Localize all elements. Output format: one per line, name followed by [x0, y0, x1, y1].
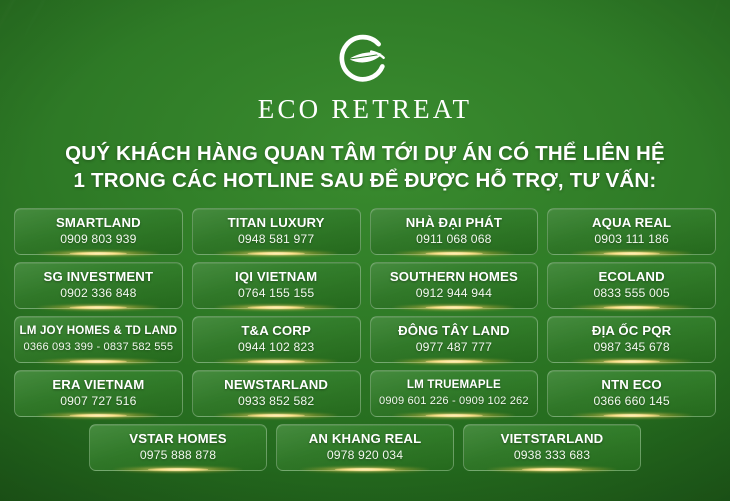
agency-name: VSTAR HOMES — [129, 432, 226, 447]
agency-name: NHÀ ĐẠI PHÁT — [406, 216, 502, 231]
agency-phone[interactable]: 0366 660 145 — [593, 395, 669, 408]
agency-phone[interactable]: 0903 111 186 — [594, 233, 669, 246]
poster-content: ECO RETREAT QUÝ KHÁCH HÀNG QUAN TÂM TỚI … — [0, 0, 730, 501]
hotline-card[interactable]: SMARTLAND 0909 803 939 — [14, 208, 183, 255]
agency-phone[interactable]: 0975 888 878 — [140, 449, 216, 462]
headline-line-2: 1 TRONG CÁC HOTLINE SAU ĐỂ ĐƯỢC HỖ TRỢ, … — [18, 167, 712, 194]
agency-name: VIETSTARLAND — [501, 432, 604, 447]
agency-phone[interactable]: 0911 068 068 — [416, 233, 491, 246]
hotline-row: SMARTLAND 0909 803 939 TITAN LUXURY 0948… — [14, 208, 716, 255]
agency-phone[interactable]: 0977 487 777 — [416, 341, 492, 354]
agency-phone[interactable]: 0948 581 977 — [238, 233, 314, 246]
eco-retreat-hotline-poster: ECO RETREAT QUÝ KHÁCH HÀNG QUAN TÂM TỚI … — [0, 0, 730, 501]
agency-phone[interactable]: 0909 601 226 - 0909 102 262 — [379, 395, 529, 407]
hotline-card[interactable]: NEWSTARLAND 0933 852 582 — [192, 370, 361, 417]
hotline-card[interactable]: SOUTHERN HOMES 0912 944 944 — [370, 262, 539, 309]
hotline-card[interactable]: VIETSTARLAND 0938 333 683 — [463, 424, 641, 471]
agency-name: SMARTLAND — [56, 216, 141, 231]
agency-phone[interactable]: 0909 803 939 — [60, 233, 136, 246]
hotline-row: LM JOY HOMES & TD LAND 0366 093 399 - 08… — [14, 316, 716, 363]
agency-phone[interactable]: 0938 333 683 — [514, 449, 590, 462]
agency-name: ĐÔNG TÂY LAND — [398, 324, 510, 339]
brand-header: ECO RETREAT — [0, 0, 730, 123]
hotline-row: VSTAR HOMES 0975 888 878 AN KHANG REAL 0… — [14, 424, 716, 471]
agency-name: SOUTHERN HOMES — [390, 270, 518, 285]
agency-phone[interactable]: 0366 093 399 - 0837 582 555 — [24, 341, 174, 353]
hotline-row: SG INVESTMENT 0902 336 848 IQI VIETNAM 0… — [14, 262, 716, 309]
eco-leaf-circle-logo-icon — [334, 28, 396, 90]
agency-phone[interactable]: 0912 944 944 — [416, 287, 492, 300]
hotline-card[interactable]: ERA VIETNAM 0907 727 516 — [14, 370, 183, 417]
agency-phone[interactable]: 0978 920 034 — [327, 449, 403, 462]
hotline-card[interactable]: IQI VIETNAM 0764 155 155 — [192, 262, 361, 309]
hotline-card[interactable]: NTN ECO 0366 660 145 — [547, 370, 716, 417]
agency-phone[interactable]: 0987 345 678 — [593, 341, 669, 354]
agency-name: SG INVESTMENT — [44, 270, 154, 285]
agency-phone[interactable]: 0944 102 823 — [238, 341, 314, 354]
hotline-row: ERA VIETNAM 0907 727 516 NEWSTARLAND 093… — [14, 370, 716, 417]
agency-phone[interactable]: 0907 727 516 — [60, 395, 136, 408]
hotline-card[interactable]: AQUA REAL 0903 111 186 — [547, 208, 716, 255]
brand-wordmark: ECO RETREAT — [0, 96, 730, 123]
agency-phone[interactable]: 0902 336 848 — [60, 287, 136, 300]
agency-name: ERA VIETNAM — [52, 378, 144, 393]
agency-name: ECOLAND — [598, 270, 664, 285]
agency-name: ĐỊA ỐC PQR — [592, 324, 671, 339]
agency-name: LM TRUEMAPLE — [407, 379, 501, 392]
hotline-card[interactable]: ĐỊA ỐC PQR 0987 345 678 — [547, 316, 716, 363]
agency-phone[interactable]: 0833 555 005 — [593, 287, 669, 300]
agency-name: T&A CORP — [241, 324, 311, 339]
hotline-card[interactable]: VSTAR HOMES 0975 888 878 — [89, 424, 267, 471]
agency-name: AQUA REAL — [592, 216, 671, 231]
agency-name: LM JOY HOMES & TD LAND — [20, 325, 178, 338]
agency-name: IQI VIETNAM — [235, 270, 317, 285]
hotline-card[interactable]: AN KHANG REAL 0978 920 034 — [276, 424, 454, 471]
hotline-card[interactable]: TITAN LUXURY 0948 581 977 — [192, 208, 361, 255]
hotline-card[interactable]: LM JOY HOMES & TD LAND 0366 093 399 - 08… — [14, 316, 183, 363]
hotline-grid: SMARTLAND 0909 803 939 TITAN LUXURY 0948… — [0, 208, 730, 471]
agency-name: TITAN LUXURY — [228, 216, 325, 231]
hotline-card[interactable]: NHÀ ĐẠI PHÁT 0911 068 068 — [370, 208, 539, 255]
agency-phone[interactable]: 0764 155 155 — [238, 287, 314, 300]
headline: QUÝ KHÁCH HÀNG QUAN TÂM TỚI DỰ ÁN CÓ THỂ… — [0, 140, 730, 195]
hotline-card[interactable]: T&A CORP 0944 102 823 — [192, 316, 361, 363]
agency-phone[interactable]: 0933 852 582 — [238, 395, 314, 408]
hotline-card[interactable]: SG INVESTMENT 0902 336 848 — [14, 262, 183, 309]
agency-name: AN KHANG REAL — [309, 432, 422, 447]
hotline-card[interactable]: LM TRUEMAPLE 0909 601 226 - 0909 102 262 — [370, 370, 539, 417]
agency-name: NEWSTARLAND — [224, 378, 328, 393]
hotline-card[interactable]: ĐÔNG TÂY LAND 0977 487 777 — [370, 316, 539, 363]
agency-name: NTN ECO — [601, 378, 661, 393]
hotline-card[interactable]: ECOLAND 0833 555 005 — [547, 262, 716, 309]
headline-line-1: QUÝ KHÁCH HÀNG QUAN TÂM TỚI DỰ ÁN CÓ THỂ… — [18, 140, 712, 167]
